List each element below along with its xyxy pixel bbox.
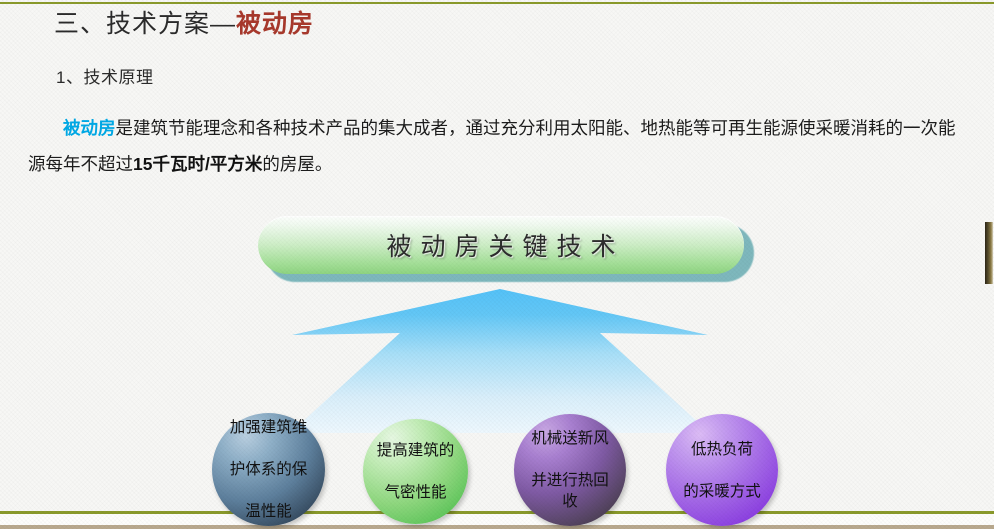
slide-canvas: 三、技术方案—被动房 1、技术原理 被动房是建筑节能理念和各种技术产品的集大成者… xyxy=(0,0,994,529)
page-title-accent: 被动房 xyxy=(236,10,314,38)
page-title-plain: 三、技术方案— xyxy=(54,10,236,38)
right-edge-tab[interactable] xyxy=(985,222,993,284)
bubble-4-label: 低热负荷 的采暖方式 xyxy=(671,439,773,502)
body-paragraph: 被动房是建筑节能理念和各种技术产品的集大成者，通过充分利用太阳能、地热能等可再生… xyxy=(28,110,968,182)
bubble-insulation[interactable]: 加强建筑维 护体系的保 温性能 xyxy=(212,413,325,526)
bubble-1-label: 加强建筑维 护体系的保 温性能 xyxy=(218,417,320,522)
bottom-band xyxy=(0,514,994,525)
page-title: 三、技术方案—被动房 xyxy=(54,4,314,40)
bubble-ventilation[interactable]: 机械送新风 并进行热回收 xyxy=(514,414,626,526)
bubble-2-label: 提高建筑的 气密性能 xyxy=(365,440,467,503)
paragraph-part-2: 的房屋。 xyxy=(262,154,332,174)
upward-arrow-icon xyxy=(290,285,710,435)
banner-pill: 被动房关键技术 xyxy=(258,216,744,274)
section-subheading: 1、技术原理 xyxy=(56,63,153,88)
bubble-3-label: 机械送新风 并进行热回收 xyxy=(514,428,626,512)
paragraph-bold-term: 15千瓦时/平方米 xyxy=(133,154,262,174)
diagram-banner: 被动房关键技术 xyxy=(256,212,756,286)
banner-label: 被动房关键技术 xyxy=(377,227,624,263)
paragraph-highlight-term: 被动房 xyxy=(63,118,116,138)
bubble-heating[interactable]: 低热负荷 的采暖方式 xyxy=(666,414,778,526)
bubble-airtightness[interactable]: 提高建筑的 气密性能 xyxy=(363,419,468,524)
bottom-tan-rule xyxy=(0,525,994,529)
